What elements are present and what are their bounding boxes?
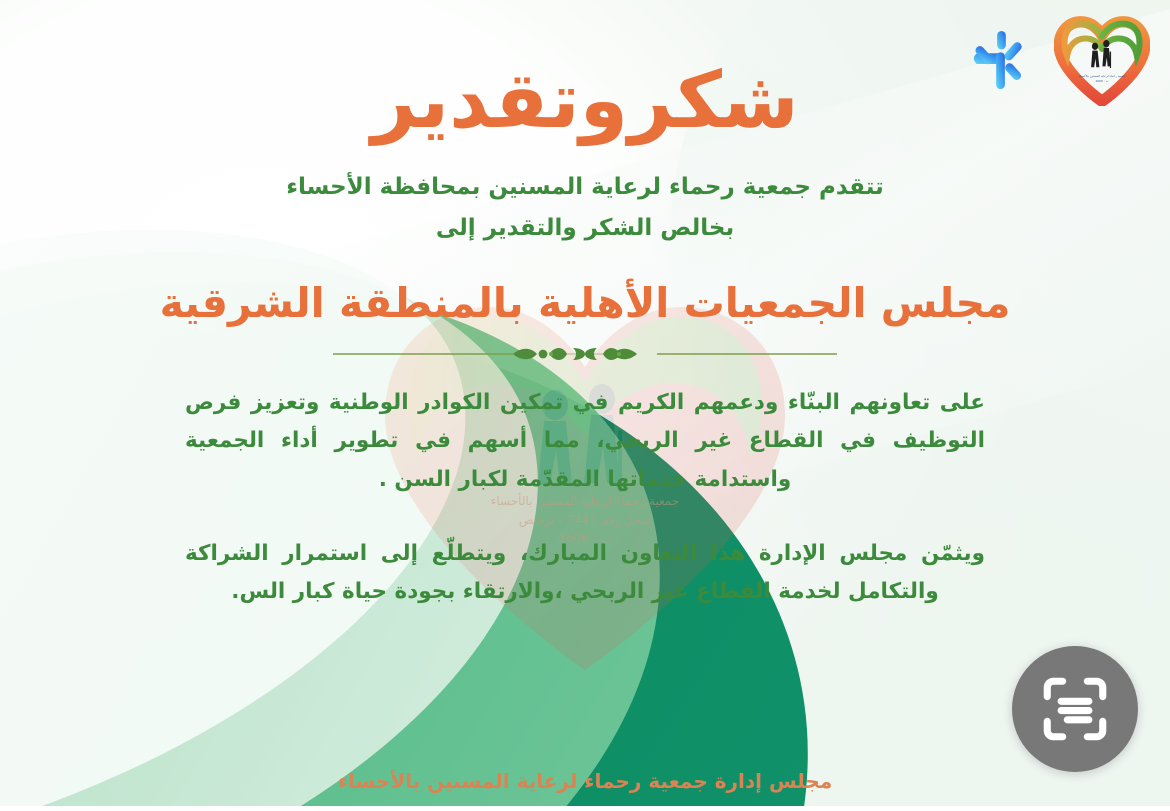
certificate-subtitle: تتقدم جمعية رحماء لرعاية المسنين بمحافظة… (286, 167, 883, 248)
certificate-footer: مجلس إدارة جمعية رحماء لرعاية المسنين با… (0, 769, 1170, 793)
scan-text-icon (1038, 672, 1112, 746)
certificate-content: شكروتقدير تتقدم جمعية رحماء لرعاية المسن… (0, 0, 1170, 811)
body-paragraph-1: على تعاونهم البنّاء ودعمهم الكريم في تمك… (185, 384, 985, 499)
subtitle-line-1: تتقدم جمعية رحماء لرعاية المسنين بمحافظة… (286, 167, 883, 207)
body-paragraph-2: ويثمّن مجلس الإدارة هذا التعاون المبارك،… (185, 535, 985, 612)
google-lens-scan-text-button[interactable] (1012, 646, 1138, 772)
certificate-page: جمعية رحماء لرعاية المسنين بالأحساء سجل … (0, 0, 1170, 811)
recipient-name: مجلس الجمعيات الأهلية بالمنطقة الشرقية (160, 276, 1011, 330)
subtitle-line-2: بخالص الشكر والتقدير إلى (286, 208, 883, 248)
bottom-strip (0, 806, 1170, 811)
certificate-title: شكروتقدير (371, 58, 798, 145)
ornamental-divider (325, 342, 845, 366)
